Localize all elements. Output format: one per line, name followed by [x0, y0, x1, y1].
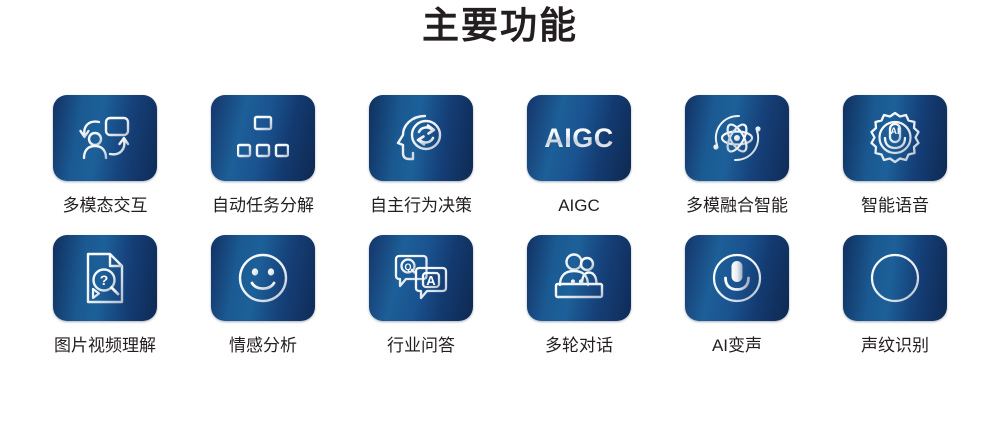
feature-tile[interactable]: AIGC [527, 95, 631, 181]
svg-text:?: ? [100, 272, 109, 288]
feature-tile[interactable] [53, 95, 157, 181]
svg-text:A: A [426, 273, 436, 288]
feature-row-1: 多模态交互 [30, 95, 970, 217]
feature-tile[interactable] [211, 235, 315, 321]
feature-item-industry-qa[interactable]: Q A 行业问答 [346, 235, 496, 357]
feature-label: 自动任务分解 [212, 195, 314, 217]
document-magnifier-question-icon: ? [82, 251, 128, 305]
feature-label: AI变声 [712, 335, 762, 357]
feature-tile[interactable] [685, 95, 789, 181]
page-title: 主要功能 [0, 2, 1000, 50]
feature-item-intelligent-voice[interactable]: AI 智能语音 [820, 95, 970, 217]
feature-tile[interactable] [211, 95, 315, 181]
feature-item-autonomous-decision[interactable]: 自主行为决策 [346, 95, 496, 217]
feature-tile[interactable]: ? [53, 235, 157, 321]
feature-label: 情感分析 [229, 335, 297, 357]
feature-row-2: ? 图片视频理解 [30, 235, 970, 357]
feature-label: 自主行为决策 [370, 195, 472, 217]
feature-tile[interactable] [685, 235, 789, 321]
aigc-text-icon: AIGC [544, 125, 614, 152]
svg-text:AI: AI [891, 126, 900, 136]
feature-item-image-video-understanding[interactable]: ? 图片视频理解 [30, 235, 180, 357]
feature-tile[interactable]: AI [843, 95, 947, 181]
feature-grid: 多模态交互 [0, 95, 1000, 357]
feature-label: 声纹识别 [861, 335, 929, 357]
svg-text:Q: Q [404, 262, 411, 272]
gear-microphone-ai-icon: AI [868, 111, 922, 165]
qa-speech-bubbles-icon: Q A [393, 253, 449, 303]
feature-item-voiceprint-recognition[interactable]: 声纹识别 [820, 235, 970, 357]
feature-item-aigc[interactable]: AIGC AIGC [504, 95, 654, 217]
feature-item-ai-voice-change[interactable]: AI变声 [662, 235, 812, 357]
feature-label: 多模融合智能 [686, 195, 788, 217]
user-screen-exchange-icon [77, 113, 133, 163]
feature-tile[interactable] [843, 235, 947, 321]
feature-label: 行业问答 [387, 335, 455, 357]
feature-label: 多轮对话 [545, 335, 613, 357]
feature-item-sentiment-analysis[interactable]: 情感分析 [188, 235, 338, 357]
feature-label: 多模态交互 [63, 195, 148, 217]
feature-overview-page: 主要功能 [0, 0, 1000, 447]
feature-label: AIGC [558, 195, 600, 217]
smiley-face-icon [237, 252, 289, 304]
org-chart-icon [237, 114, 289, 162]
feature-item-multimodal-interaction[interactable]: 多模态交互 [30, 95, 180, 217]
feature-tile[interactable] [527, 235, 631, 321]
atom-orbit-icon [709, 111, 765, 165]
feature-item-multimodal-fusion[interactable]: 多模融合智能 [662, 95, 812, 217]
feature-tile[interactable]: Q A [369, 235, 473, 321]
two-people-table-icon [550, 253, 608, 303]
feature-item-multi-turn-dialogue[interactable]: 多轮对话 [504, 235, 654, 357]
feature-tile[interactable] [369, 95, 473, 181]
feature-label: 图片视频理解 [54, 335, 156, 357]
feature-label: 智能语音 [861, 195, 929, 217]
microphone-circle-icon [710, 251, 764, 305]
head-cycle-icon [395, 112, 447, 164]
feature-item-task-decomposition[interactable]: 自动任务分解 [188, 95, 338, 217]
voiceprint-waveform-circle-icon [868, 251, 922, 305]
